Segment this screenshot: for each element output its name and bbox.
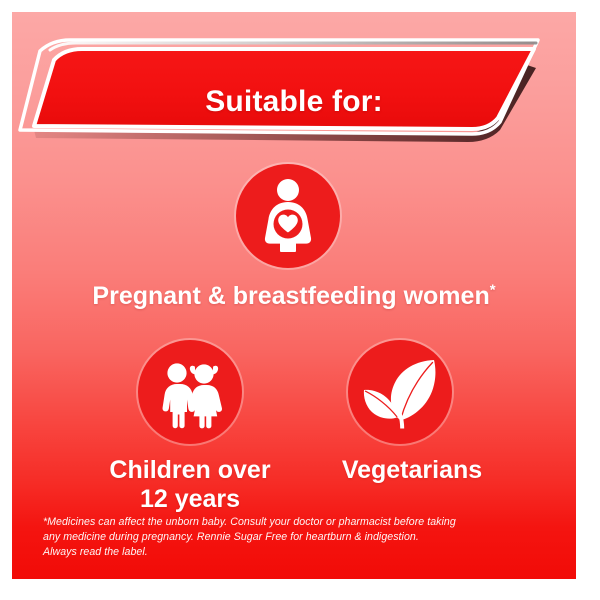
icon-circle-children [138,340,242,444]
caption-vegetarians: Vegetarians [308,456,516,485]
footnote-line-2: any medicine during pregnancy. Rennie Su… [43,530,523,545]
caption-children-line2: 12 years [140,485,240,513]
two-children-icon [138,340,242,444]
caption-pregnant: Pregnant & breastfeeding women* [12,282,576,311]
header-banner: Suitable for: [12,38,576,142]
footnote: *Medicines can affect the unborn baby. C… [43,515,523,560]
icon-circle-vegetarians [348,340,452,444]
product-infographic: Suitable for: Pregnant & breastfe [0,0,600,600]
caption-children: Children over 12 years [86,456,294,514]
leaf-large [391,360,436,420]
caption-vegetarians-text: Vegetarians [342,456,482,484]
caption-children-line1: Children over [109,456,270,484]
caption-pregnant-text: Pregnant & breastfeeding women [92,282,489,310]
gradient-panel: Suitable for: Pregnant & breastfe [12,12,576,579]
leaves-icon [348,340,452,444]
banner-title: Suitable for: [12,87,576,117]
pregnant-woman-icon [236,164,340,268]
footnote-marker: * [490,282,496,299]
footnote-line-3: Always read the label. [43,545,523,560]
footnote-line-1: *Medicines can affect the unborn baby. C… [43,515,523,530]
icon-circle-pregnant [236,164,340,268]
